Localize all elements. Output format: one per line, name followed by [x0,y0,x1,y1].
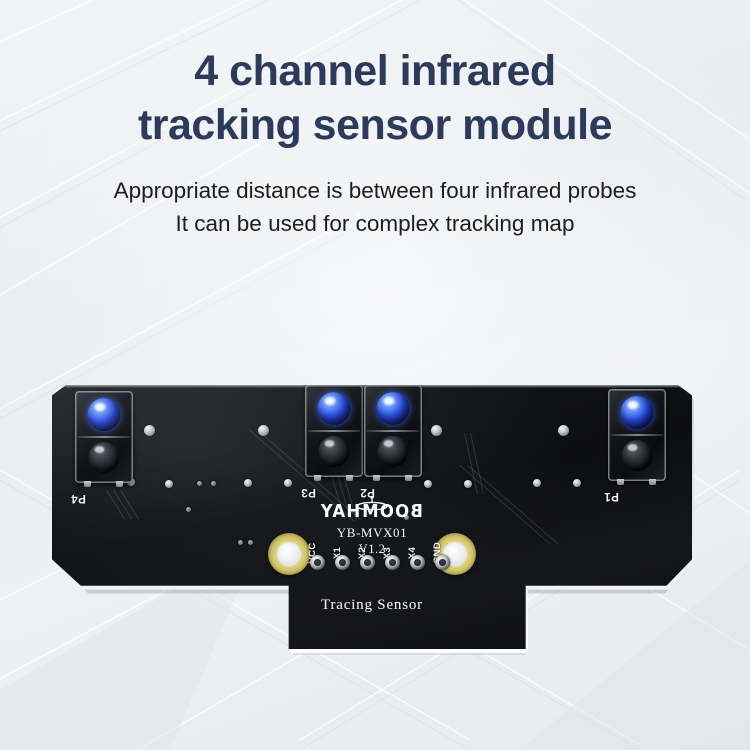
ir-sensor-p1: P1 [608,389,666,481]
solder-pad [558,425,569,436]
solder-pad [165,480,173,488]
title-line-1: 4 channel infrared [194,47,555,95]
ir-sensor-p4: P4 [75,391,133,483]
solder-pad [244,479,252,487]
solder-pad [144,425,155,436]
board-name-silkscreen: Tracing Sensor [52,597,692,614]
sensor-label-p3: P3 [301,486,316,498]
sensor-pin [405,475,412,481]
sensor-divider [308,430,360,432]
robot-antenna-icon [355,496,389,510]
header: 4 channel infrared tracking sensor modul… [0,0,750,240]
pin-x3: X3 [385,555,400,570]
sensor-divider [611,434,663,436]
ir-sensor-p3: P3 [305,385,363,477]
subtitle-line-2: It can be used for complex tracking map [0,207,750,240]
title-line-2: tracking sensor module [0,98,750,152]
sensor-pin [373,475,380,481]
ir-emitter-led [88,398,121,431]
board-model: YB-MVX01 [52,525,692,541]
sensor-label-p4: P4 [71,492,86,504]
brand-right: BOOM [361,503,423,522]
solder-pad [464,480,472,488]
pcb-marker [186,507,191,512]
pin-pad [360,555,375,570]
ir-emitter-led [318,392,351,425]
page-title: 4 channel infrared tracking sensor modul… [0,0,750,152]
ir-emitter-led [377,392,410,425]
ir-receiver-photodiode [622,440,653,471]
mounting-hole-left [268,533,310,575]
solder-pad [431,425,442,436]
solder-pad [573,479,581,487]
pcb-marker [248,540,253,545]
pin-x4: X4 [410,555,425,570]
ir-receiver-photodiode [378,436,409,467]
pcb-marker [404,515,409,520]
pin-x1: X1 [335,555,350,570]
subtitle-line-1: Appropriate distance is between four inf… [114,178,637,203]
sensor-pin [116,481,123,487]
ir-sensor-p2: P2 [364,385,422,477]
pcb-trace [459,465,550,544]
sensor-pin [314,475,321,481]
sensor-pin [649,479,656,485]
solder-pad [533,479,541,487]
sensor-pin [84,481,91,487]
sensor-divider [367,430,419,432]
pin-pad [435,555,450,570]
sensor-label-p1: P1 [604,490,619,502]
pcb-board: P4 P3 P2 [52,385,692,649]
pin-pad [410,555,425,570]
sensor-pin [346,475,353,481]
product-image: P4 P3 P2 [52,385,698,660]
pcb-marker [197,481,202,486]
pcb-marker [238,540,243,545]
product-banner: 4 channel infrared tracking sensor modul… [0,0,750,750]
solder-pad [424,480,432,488]
solder-pad [284,479,292,487]
pin-pad [335,555,350,570]
pin-gnd: GND [435,555,450,570]
sensor-label-p2: P2 [360,486,375,498]
pin-x2: X2 [360,555,375,570]
solder-pad [258,425,269,436]
silkscreen-branding: YAHBOOM YB-MVX01 V1.2 [52,503,692,557]
sensor-divider [78,436,130,438]
sensor-pin [617,479,624,485]
ir-receiver-photodiode [319,436,350,467]
ir-emitter-led [621,396,654,429]
ir-receiver-photodiode [89,442,120,473]
pcb-marker [211,481,216,486]
pcb-trace [467,465,558,544]
pin-pad [385,555,400,570]
page-subtitle: Appropriate distance is between four inf… [0,152,750,240]
pin-pad [310,555,325,570]
pin-vcc: VCC [310,555,325,570]
